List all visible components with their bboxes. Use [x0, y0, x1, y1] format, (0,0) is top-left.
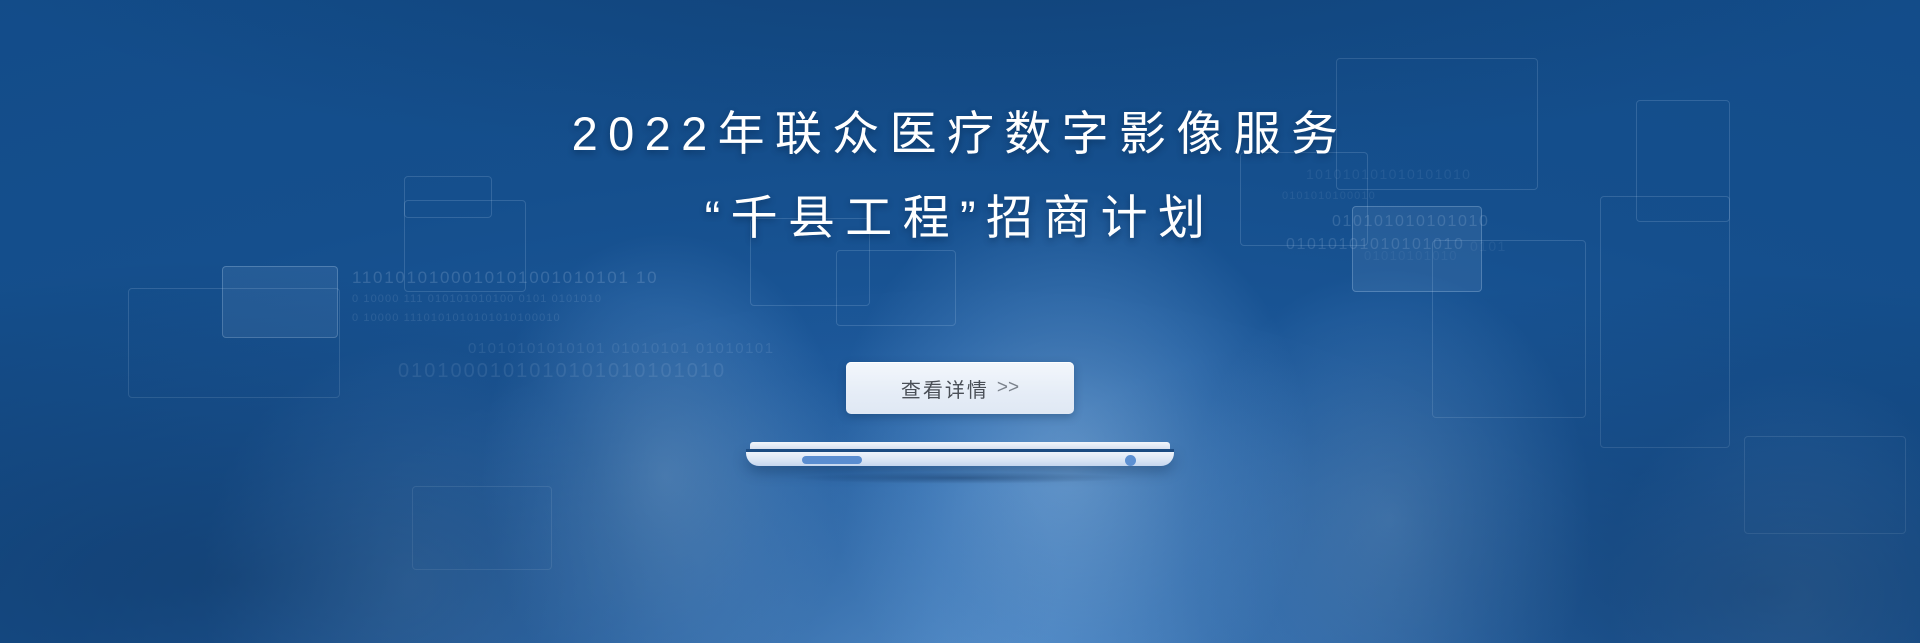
laptop-shadow — [725, 470, 1195, 486]
laptop-port-right — [1125, 455, 1136, 466]
chevron-right-icon: >> — [997, 377, 1019, 399]
laptop-lid-edge — [750, 442, 1170, 449]
headline-line-2: “千县工程”招商计划 — [0, 188, 1920, 248]
promo-banner: 1101010100010101001010101 10 0 10000 111… — [0, 0, 1920, 643]
laptop-body — [746, 452, 1174, 466]
vignette-overlay — [0, 0, 1920, 643]
headline-group: 2022年联众医疗数字影像服务 “千县工程”招商计划 — [0, 104, 1920, 248]
view-details-label: 查看详情 — [901, 374, 989, 403]
cta-container: 查看详情 >> — [0, 362, 1920, 414]
headline-line-1: 2022年联众医疗数字影像服务 — [0, 104, 1920, 164]
laptop-base-illustration — [746, 442, 1174, 468]
view-details-button[interactable]: 查看详情 >> — [846, 362, 1074, 414]
laptop-port-left — [802, 456, 862, 464]
